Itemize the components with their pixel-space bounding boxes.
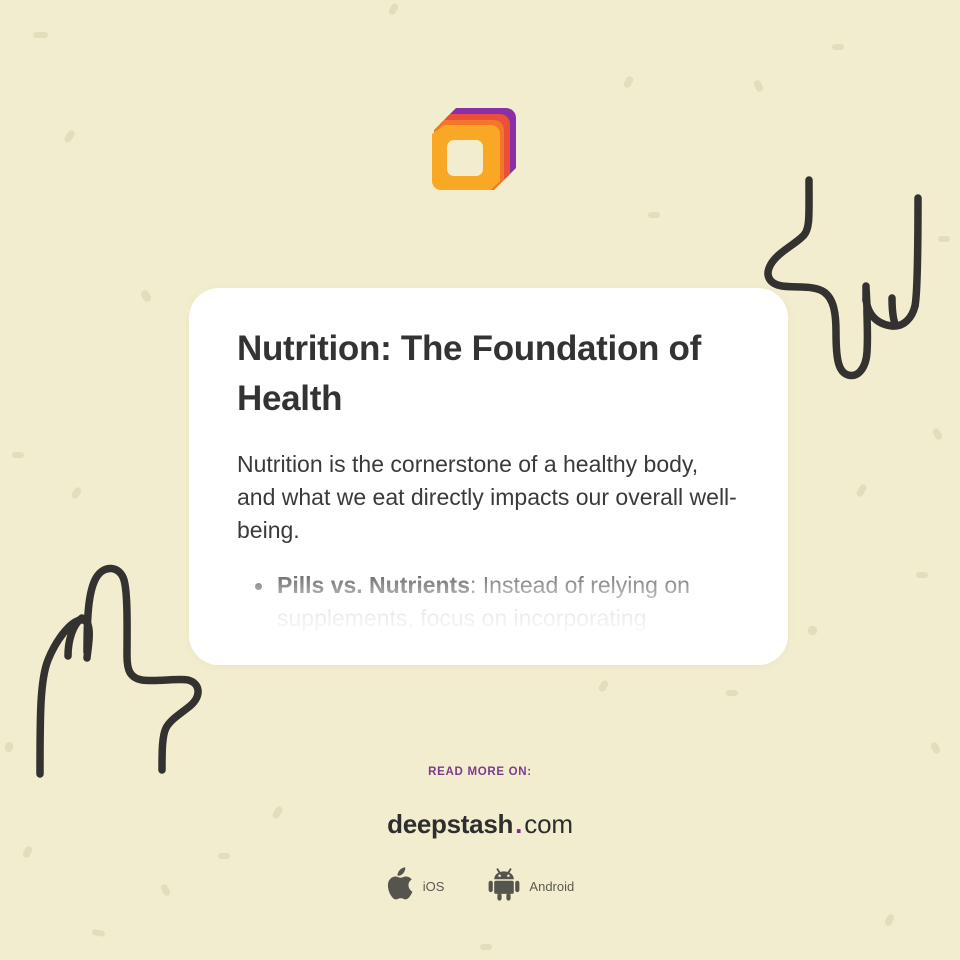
background-speck	[4, 741, 15, 753]
background-speck	[480, 944, 492, 950]
background-speck	[938, 236, 950, 242]
background-speck	[623, 75, 635, 89]
bullet-lead-label: Pills vs. Nutrients	[277, 572, 470, 598]
wordmark-tld: com	[524, 809, 573, 839]
android-store-label: Android	[529, 879, 574, 894]
deepstash-wordmark[interactable]: deepstash.com	[0, 809, 960, 839]
background-speck	[70, 486, 82, 500]
background-speck	[12, 452, 24, 458]
apple-icon	[386, 867, 414, 906]
background-speck	[855, 483, 868, 498]
deepstash-logo	[428, 104, 520, 196]
wordmark-dot: .	[513, 809, 524, 839]
poster-canvas: Nutrition: The Foundation of Health Nutr…	[0, 0, 960, 960]
background-speck	[648, 212, 660, 218]
bullet-body-faded: supplements, focus on incorporating	[277, 605, 647, 631]
ios-store-label: iOS	[423, 879, 445, 894]
background-speck	[63, 129, 76, 144]
card-title: Nutrition: The Foundation of Health	[237, 324, 740, 424]
footer: READ MORE ON: deepstash.com iOS	[0, 766, 960, 906]
background-speck	[726, 690, 738, 696]
background-speck	[33, 32, 48, 38]
background-speck	[931, 427, 943, 441]
android-icon	[488, 867, 520, 906]
bullet-body-visible: Instead of relying on	[483, 572, 690, 598]
hand-pointing-up-illustration	[18, 556, 218, 797]
wordmark-name: deepstash	[387, 809, 513, 839]
background-speck	[140, 289, 153, 303]
background-speck	[597, 679, 609, 693]
ios-store-badge[interactable]: iOS	[386, 867, 445, 906]
card-content: Nutrition: The Foundation of Health Nutr…	[189, 288, 788, 641]
background-speck	[916, 572, 928, 578]
background-speck	[930, 741, 942, 755]
card-paragraph: Nutrition is the cornerstone of a health…	[237, 448, 740, 547]
background-speck	[753, 79, 764, 93]
android-store-badge[interactable]: Android	[488, 867, 574, 906]
app-store-badges: iOS	[0, 867, 960, 906]
background-speck	[92, 929, 106, 937]
list-item: Pills vs. Nutrients: Instead of relying …	[277, 569, 740, 635]
background-speck	[832, 44, 844, 50]
content-card[interactable]: Nutrition: The Foundation of Health Nutr…	[189, 288, 788, 665]
card-bullet-list: Pills vs. Nutrients: Instead of relying …	[237, 569, 740, 635]
read-more-label: READ MORE ON:	[0, 766, 960, 778]
background-speck	[387, 2, 399, 16]
background-speck	[884, 913, 895, 927]
background-speck	[808, 626, 817, 635]
bullet-separator: :	[470, 572, 483, 598]
